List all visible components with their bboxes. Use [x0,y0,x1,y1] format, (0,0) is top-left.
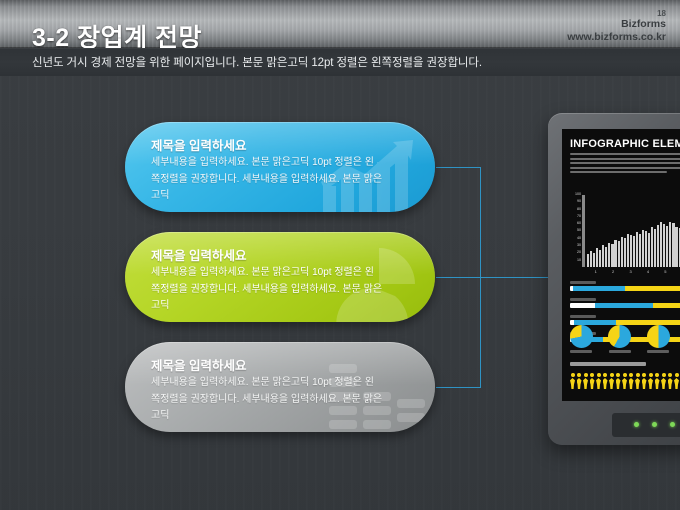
pie-chart-group [570,325,680,348]
slide-canvas: 3-2 장업계 전망 18 Bizforms www.bizforms.co.k… [0,0,680,510]
pie-label-group [570,350,680,353]
tablet-bezel-strip [612,413,680,437]
card-title: 제목을 입력하세요 [151,135,246,154]
card-title: 제목을 입력하세요 [151,355,246,374]
chart-y-axis [582,195,585,267]
slide-header: 3-2 장업계 전망 18 Bizforms www.bizforms.co.k… [0,0,680,48]
subtitle-bar: 신년도 거시 경제 전망을 위한 페이지입니다. 본문 맑은고딕 12pt 정렬… [0,48,680,76]
led-indicator-2 [652,422,657,427]
brand-block: 18 Bizforms www.bizforms.co.kr [567,9,666,43]
brand-url: www.bizforms.co.kr [567,31,666,43]
card-gray[interactable]: 제목을 입력하세요 세부내용을 입력하세요. 본문 맑은고딕 10pt 정렬은 … [125,342,435,432]
led-indicator-3 [670,422,675,427]
connector-line-blue [436,167,481,168]
chart-x-tick-labels: 1234567 [587,269,680,274]
tablet-device: INFOGRAPHIC ELEMENTS 1009080706050403020… [548,113,680,445]
people-section-label [570,362,646,366]
subtitle-text: 신년도 거시 경제 전망을 위한 페이지입니다. 본문 맑은고딕 12pt 정렬… [32,54,482,70]
infographic-paragraph-lines [570,153,680,176]
brand-name: Bizforms [567,18,666,30]
chart-y-tick-labels: 100908070605040302010 [566,191,581,264]
tablet-screen[interactable]: INFOGRAPHIC ELEMENTS 1009080706050403020… [562,129,680,401]
people-pictogram-row [570,373,680,389]
card-title: 제목을 입력하세요 [151,245,246,264]
connector-line-green [436,277,481,278]
card-blue[interactable]: 제목을 입력하세요 세부내용을 입력하세요. 본문 맑은고딕 10pt 정렬은 … [125,122,435,212]
led-indicator-1 [634,422,639,427]
card-body: 세부내용을 입력하세요. 본문 맑은고딕 10pt 정렬은 왼쪽정렬을 권장합니… [151,375,383,425]
page-number: 18 [567,9,666,18]
card-body: 세부내용을 입력하세요. 본문 맑은고딕 10pt 정렬은 왼쪽정렬을 권장합니… [151,155,383,205]
chart-bars [587,195,680,267]
card-green[interactable]: 제목을 입력하세요 세부내용을 입력하세요. 본문 맑은고딕 10pt 정렬은 … [125,232,435,322]
connector-line-tablet [480,277,552,278]
connector-line-gray [436,387,481,388]
infographic-title: INFOGRAPHIC ELEMENTS [570,138,680,150]
card-body: 세부내용을 입력하세요. 본문 맑은고딕 10pt 정렬은 왼쪽정렬을 권장합니… [151,265,383,315]
